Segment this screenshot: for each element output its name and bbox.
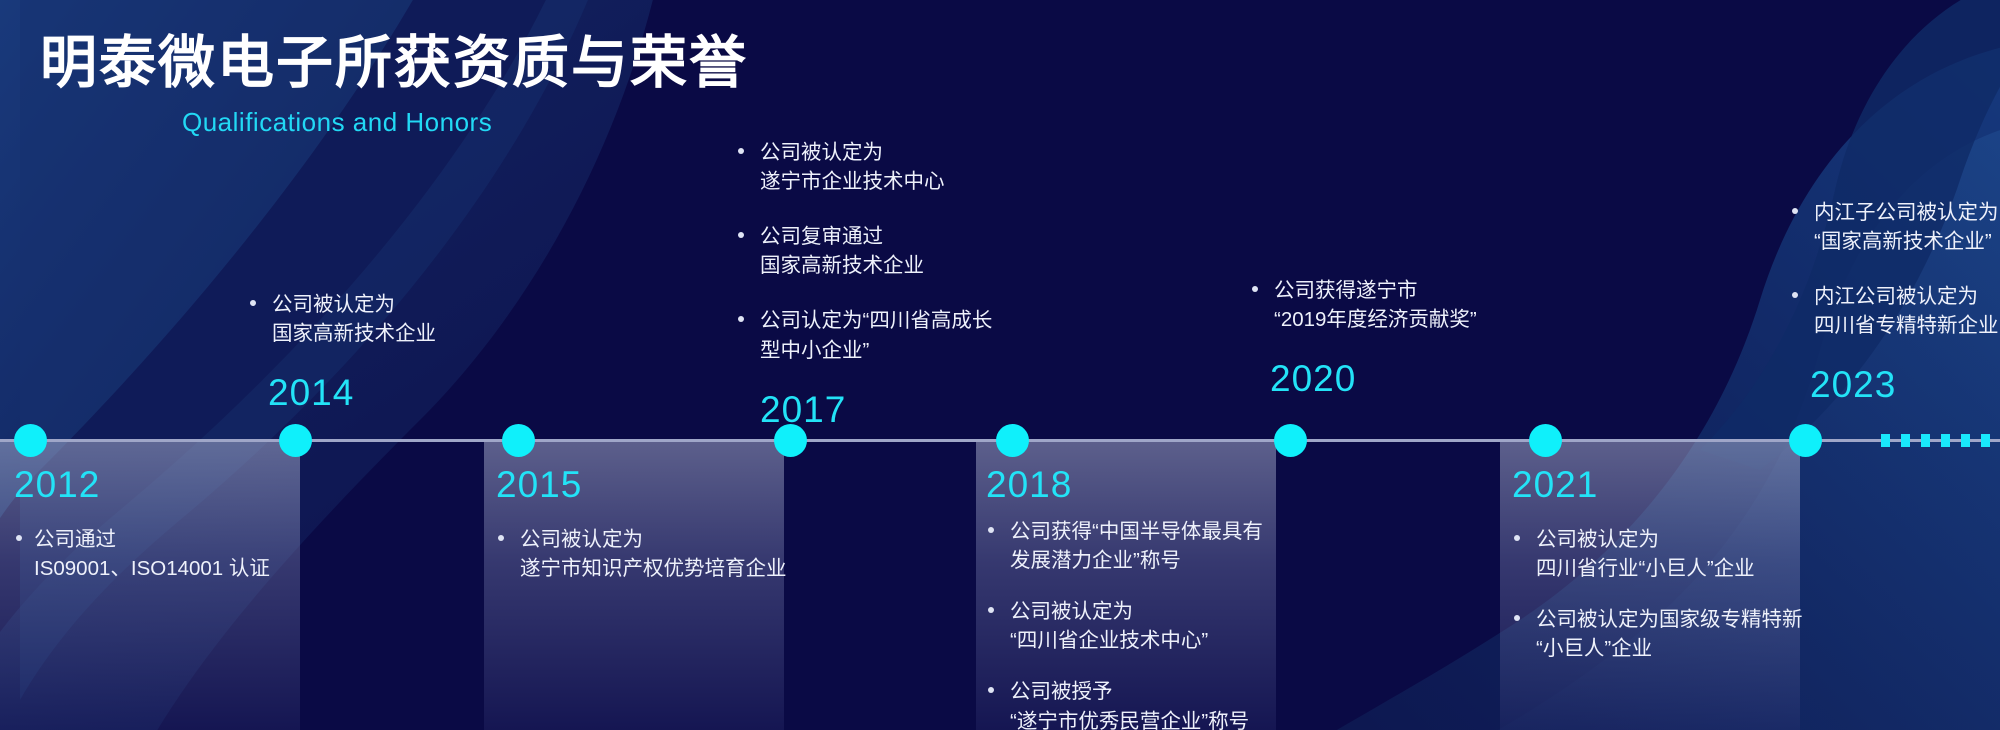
list-item: 公司被认定为 “四川省企业技术中心” bbox=[986, 597, 1286, 655]
list-item: 内江子公司被认定为 “国家高新技术企业” bbox=[1790, 198, 2000, 256]
list-item: 公司被认定为国家级专精特新 “小巨人”企业 bbox=[1512, 605, 1822, 663]
slide-canvas: 明泰微电子所获资质与荣誉 Qualifications and Honors 公… bbox=[0, 0, 2000, 730]
timeline-entry-2023[interactable]: 内江子公司被认定为 “国家高新技术企业” 内江公司被认定为 四川省专精特新企业 … bbox=[1790, 198, 2000, 403]
header: 明泰微电子所获资质与荣誉 Qualifications and Honors bbox=[40, 32, 748, 138]
timeline-entry-2017[interactable]: 公司被认定为 遂宁市企业技术中心 公司复审通过 国家高新技术企业 公司认定为“四… bbox=[736, 138, 1066, 428]
bullet-list-2021: 公司被认定为 四川省行业“小巨人”企业 公司被认定为国家级专精特新 “小巨人”企… bbox=[1512, 525, 1822, 663]
timeline-dot-2021[interactable] bbox=[1529, 424, 1562, 457]
timeline-entry-2021[interactable]: 2021 公司被认定为 四川省行业“小巨人”企业 公司被认定为国家级专精特新 “… bbox=[1512, 466, 1822, 663]
list-item: 公司认定为“四川省高成长 型中小企业” bbox=[736, 306, 1066, 364]
list-item: 公司被认定为 遂宁市知识产权优势培育企业 bbox=[496, 525, 796, 583]
axis-dash bbox=[1961, 434, 1970, 447]
timeline-dot-2020[interactable] bbox=[1274, 424, 1307, 457]
axis-dash bbox=[1921, 434, 1930, 447]
bullet-list-2014: 公司被认定为 国家高新技术企业 bbox=[248, 290, 548, 348]
timeline-entry-2020[interactable]: 公司获得遂宁市 “2019年度经济贡献奖” 2020 bbox=[1250, 276, 1570, 397]
timeline-dot-2018[interactable] bbox=[996, 424, 1029, 457]
axis-dash bbox=[1881, 434, 1890, 447]
timeline-entry-2015[interactable]: 2015 公司被认定为 遂宁市知识产权优势培育企业 bbox=[496, 466, 796, 583]
timeline-entry-2018[interactable]: 2018 公司获得“中国半导体最具有 发展潜力企业”称号 公司被认定为 “四川省… bbox=[986, 466, 1286, 730]
axis-dash bbox=[1901, 434, 1910, 447]
list-item: 公司被认定为 国家高新技术企业 bbox=[248, 290, 548, 348]
timeline-dot-2015[interactable] bbox=[502, 424, 535, 457]
bullet-list-2015: 公司被认定为 遂宁市知识产权优势培育企业 bbox=[496, 525, 796, 583]
timeline-dot-2012[interactable] bbox=[14, 424, 47, 457]
timeline-dot-2023[interactable] bbox=[1789, 424, 1822, 457]
axis-dash bbox=[1941, 434, 1950, 447]
list-item: 公司被授予 “遂宁市优秀民营企业”称号 bbox=[986, 677, 1286, 730]
list-item: 公司被认定为 四川省行业“小巨人”企业 bbox=[1512, 525, 1822, 583]
timeline-entry-2014[interactable]: 公司被认定为 国家高新技术企业 2014 bbox=[248, 290, 548, 411]
bullet-list-2023: 内江子公司被认定为 “国家高新技术企业” 内江公司被认定为 四川省专精特新企业 bbox=[1790, 198, 2000, 340]
year-label-2012: 2012 bbox=[14, 466, 304, 503]
axis-dash bbox=[1981, 434, 1990, 447]
list-item: 公司通过 IS09001、ISO14001 认证 bbox=[14, 525, 304, 583]
year-label-2014: 2014 bbox=[268, 374, 548, 411]
bullet-list-2018: 公司获得“中国半导体最具有 发展潜力企业”称号 公司被认定为 “四川省企业技术中… bbox=[986, 517, 1286, 730]
page-subtitle: Qualifications and Honors bbox=[182, 107, 748, 138]
list-item: 公司复审通过 国家高新技术企业 bbox=[736, 222, 1066, 280]
bullet-list-2012: 公司通过 IS09001、ISO14001 认证 bbox=[14, 525, 304, 583]
year-label-2020: 2020 bbox=[1270, 360, 1570, 397]
timeline-dot-2014[interactable] bbox=[279, 424, 312, 457]
bullet-list-2020: 公司获得遂宁市 “2019年度经济贡献奖” bbox=[1250, 276, 1570, 334]
list-item: 内江公司被认定为 四川省专精特新企业 bbox=[1790, 282, 2000, 340]
timeline-entry-2012[interactable]: 2012 公司通过 IS09001、ISO14001 认证 bbox=[14, 466, 304, 583]
year-label-2015: 2015 bbox=[496, 466, 796, 503]
list-item: 公司被认定为 遂宁市企业技术中心 bbox=[736, 138, 1066, 196]
timeline-dashes bbox=[1881, 434, 1990, 447]
bullet-list-2017: 公司被认定为 遂宁市企业技术中心 公司复审通过 国家高新技术企业 公司认定为“四… bbox=[736, 138, 1066, 365]
year-label-2017: 2017 bbox=[760, 391, 1066, 428]
year-label-2023: 2023 bbox=[1810, 366, 2000, 403]
page-title: 明泰微电子所获资质与荣誉 bbox=[40, 32, 748, 95]
year-label-2021: 2021 bbox=[1512, 466, 1822, 503]
list-item: 公司获得遂宁市 “2019年度经济贡献奖” bbox=[1250, 276, 1570, 334]
list-item: 公司获得“中国半导体最具有 发展潜力企业”称号 bbox=[986, 517, 1286, 575]
year-label-2018: 2018 bbox=[986, 466, 1286, 503]
